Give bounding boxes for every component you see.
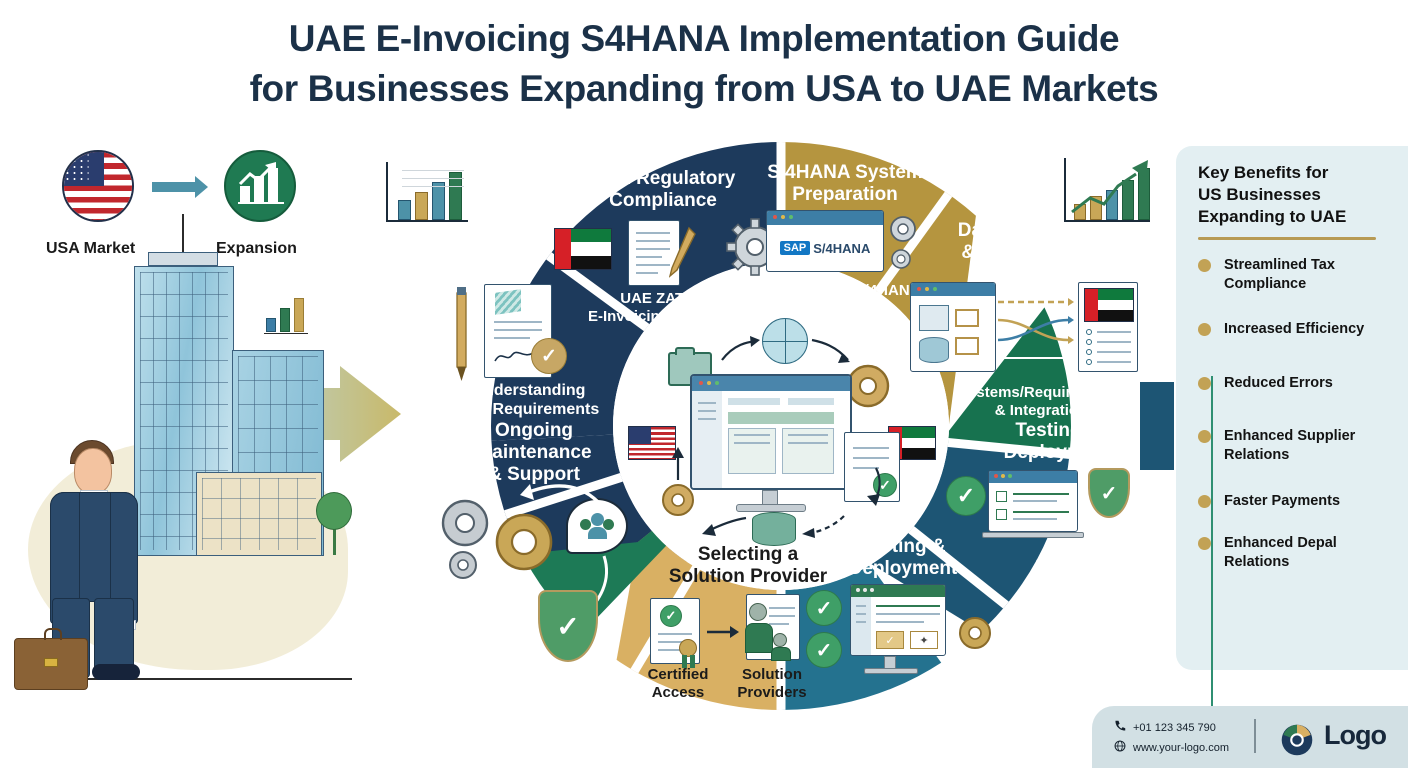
footer-bar: +01 123 345 790 www.your-logo.com Logo: [1092, 706, 1408, 768]
antenna-icon: [182, 214, 184, 256]
arrow-icon: [700, 512, 750, 540]
central-system-hub-icon: ✓: [612, 316, 952, 540]
database-icon: [752, 512, 796, 546]
key-benefits-panel: Key Benefits for US Businesses Expanding…: [1176, 146, 1408, 670]
bullet-dot-icon: [1198, 430, 1211, 443]
bullet-dot-icon: [1198, 377, 1211, 390]
sidebar-title: Key Benefits for US Businesses Expanding…: [1198, 162, 1394, 227]
benefit-label: Streamlined Tax Compliance: [1224, 256, 1335, 293]
low-building-icon: [196, 472, 322, 556]
sap-s4hana-browser-icon: SAP S/4HANA: [766, 210, 884, 272]
pencil-icon: [669, 226, 697, 282]
expansion-label: Expansion: [216, 240, 297, 258]
page-title: UAE E-Invoicing S4HANA Implementation Gu…: [0, 14, 1408, 114]
benefit-item[interactable]: Enhanced Supplier Relations: [1198, 427, 1394, 464]
certificate-icon: ✓: [650, 598, 700, 664]
right-pointer-arrow-icon: [1140, 354, 1174, 498]
check-circle-icon: ✓: [946, 476, 986, 516]
monitor-foot: [864, 668, 918, 674]
infographic-canvas: UAE E-Invoicing S4HANA Implementation Gu…: [0, 0, 1408, 768]
arrow-icon: [864, 466, 892, 508]
benefit-item[interactable]: Increased Efficiency: [1198, 320, 1394, 339]
bullet-dot-icon: [1198, 323, 1211, 336]
process-wheel: UAE Regulatory Compliance UAE ZATCA E-In…: [388, 142, 1174, 710]
uae-flag-icon: [554, 228, 612, 270]
title-line-1: UAE E-Invoicing S4HANA Implementation Gu…: [0, 14, 1408, 64]
gear-icon: [486, 504, 562, 580]
benefit-label: Increased Efficiency: [1224, 320, 1364, 339]
arrow-right-icon: [706, 624, 740, 640]
globe-icon: [1114, 740, 1126, 755]
pen-icon: [450, 287, 472, 383]
monitor-icon: [690, 374, 852, 490]
phone-icon: [1114, 720, 1126, 735]
left-scene: USA Market Expansion: [0, 140, 400, 710]
laptop-base: [982, 532, 1084, 538]
bullet-dot-icon: [1198, 259, 1211, 272]
logo-text: Logo: [1324, 720, 1386, 751]
provider-person-icon: [746, 594, 800, 660]
check-circle-icon: ✓: [806, 590, 842, 626]
footer-divider: [1254, 719, 1256, 753]
rotate-arrow-icon: [518, 478, 602, 514]
bar-chart-icon: [382, 162, 470, 226]
arrow-icon: [800, 512, 850, 540]
benefit-label: Enhanced Depal Relations: [1224, 534, 1337, 571]
gear-icon: [954, 612, 996, 654]
monitor-dashboard-icon: ✓ ✦: [850, 584, 946, 656]
gear-icon: [886, 212, 920, 246]
sidebar-rule: [1198, 237, 1376, 240]
footer-phone-row[interactable]: +01 123 345 790: [1114, 720, 1216, 735]
benefit-item[interactable]: Streamlined Tax Compliance: [1198, 256, 1394, 293]
tower-roof: [148, 252, 218, 266]
phone-number: +01 123 345 790: [1133, 722, 1216, 734]
growth-bar-chart-icon: [1060, 158, 1152, 226]
usa-market-label: USA Market: [46, 240, 135, 258]
monitor-foot: [736, 504, 806, 512]
usa-flag-circle-icon: [62, 150, 134, 222]
gear-icon: [444, 546, 482, 584]
title-line-2: for Businesses Expanding from USA to UAE…: [0, 64, 1408, 114]
footer-website-row[interactable]: www.your-logo.com: [1114, 740, 1229, 755]
right-arrow-icon: [152, 182, 196, 192]
check-circle-icon: ✓: [806, 632, 842, 668]
benefit-item[interactable]: Faster Payments: [1198, 492, 1394, 511]
website-url: www.your-logo.com: [1133, 742, 1229, 754]
aperture-logo-icon: [1280, 723, 1314, 757]
arrow-icon: [720, 336, 762, 364]
benefit-item[interactable]: Enhanced Depal Relations: [1198, 534, 1394, 571]
growth-chart-circle-icon: [224, 150, 296, 222]
benefit-item[interactable]: Reduced Errors: [1198, 374, 1394, 393]
check-badge-icon: ✓: [531, 338, 567, 374]
benefit-label: Reduced Errors: [1224, 374, 1333, 393]
globe-icon: [762, 318, 808, 364]
tree-icon: [316, 492, 352, 530]
bullet-dot-icon: [1198, 537, 1211, 550]
laptop-checklist-icon: [988, 470, 1078, 532]
uae-invoice-list-icon: [1078, 282, 1138, 372]
benefit-label: Enhanced Supplier Relations: [1224, 427, 1355, 464]
benefit-label: Faster Payments: [1224, 492, 1340, 511]
arrow-icon: [666, 446, 690, 482]
mapping-arrows-icon: [996, 288, 1074, 368]
gear-icon: [888, 246, 914, 272]
rotate-arrow-icon: [446, 582, 536, 632]
bullet-dot-icon: [1198, 495, 1211, 508]
